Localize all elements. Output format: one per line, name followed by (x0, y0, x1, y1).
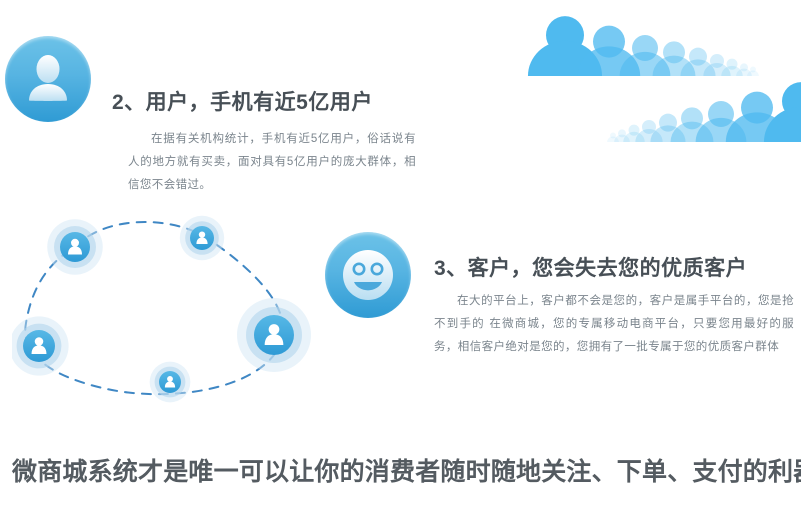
user-avatar-icon (5, 36, 91, 122)
section-3-title: 3、客户，您会失去您的优质客户 (434, 252, 747, 282)
crowd-people-illustration (505, 4, 801, 146)
crowd-row-ascending (607, 82, 801, 142)
network-node-group (12, 216, 311, 403)
smiley-face-icon (325, 232, 411, 318)
page-root: 2、用户，手机有近5亿用户 在据有关机构统计，手机有近5亿用户，俗话说有人的地方… (0, 0, 801, 507)
crowd-svg (505, 4, 801, 146)
section-3-body: 在大的平台上，客户都不会是您的，客户是属手平台的，您是抢不到手的 在微商城，您的… (434, 290, 794, 359)
crowd-row-descending (528, 16, 759, 76)
smiley-face-glyph (325, 232, 411, 318)
section-2-title: 2、用户，手机有近5亿用户 (112, 86, 373, 116)
bottom-headline: 微商城系统才是唯一可以让你的消费者随时随地关注、下单、支付的利器。 (12, 452, 792, 488)
user-network-diagram (12, 205, 322, 405)
section-2-body: 在据有关机构统计，手机有近5亿用户，俗话说有人的地方就有买卖，面对具有5亿用户的… (128, 128, 416, 197)
network-svg (12, 205, 322, 405)
user-avatar-glyph (5, 36, 91, 122)
